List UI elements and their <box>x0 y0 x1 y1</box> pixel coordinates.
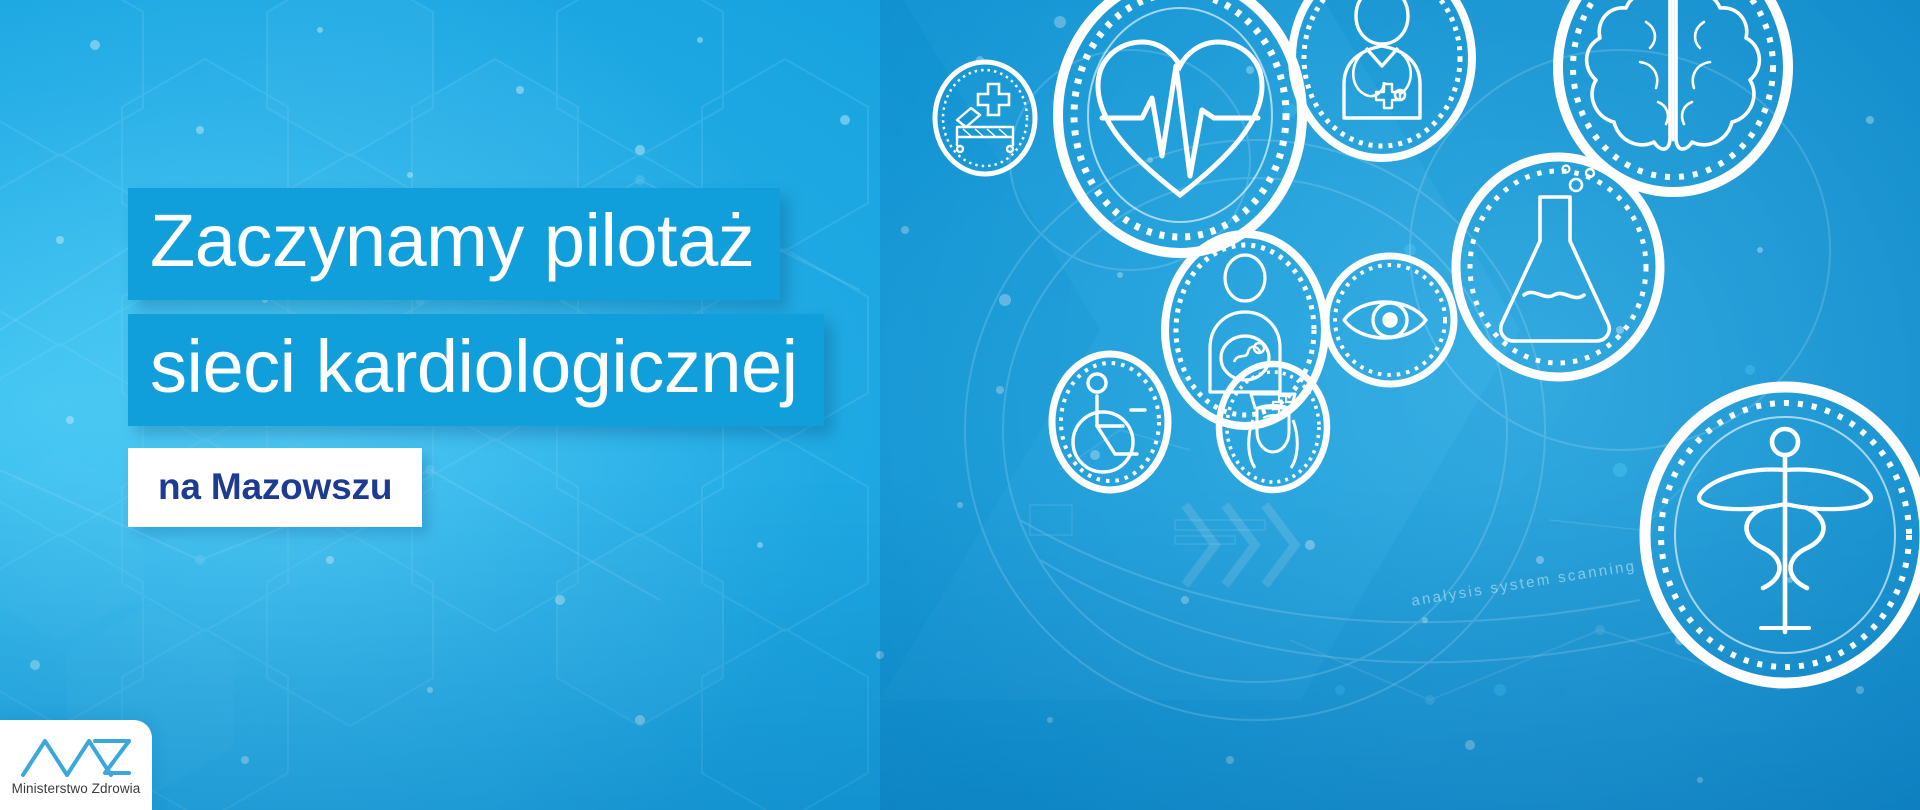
headline-line-2: sieci kardiologicznej <box>128 314 824 426</box>
eye-icon <box>1320 250 1460 390</box>
ministry-logo-caption: Ministerstwo Zdrowia <box>12 781 141 796</box>
caduceus-icon <box>1635 380 1920 690</box>
doctor-icon <box>1282 0 1482 173</box>
brain-icon <box>1548 0 1798 202</box>
bottom-shade <box>0 480 1920 810</box>
headline-block: Zaczynamy pilotaż sieci kardiologicznej … <box>128 188 824 527</box>
headline-line-1: Zaczynamy pilotaż <box>128 188 780 300</box>
right-glow <box>880 0 1920 810</box>
nurse-icon <box>1213 360 1333 495</box>
mz-monogram-icon <box>17 735 135 779</box>
scan-text-decoration: analysis system scanning <box>1410 557 1638 609</box>
flask-icon <box>1448 155 1668 385</box>
banner-root: analysis system scanning <box>0 0 1920 810</box>
pregnancy-icon <box>1158 230 1333 435</box>
ministry-logo: Ministerstwo Zdrowia <box>0 720 152 810</box>
wheelchair-icon <box>1045 350 1175 495</box>
subline-badge: na Mazowszu <box>128 448 422 527</box>
heart-pulse-icon <box>1050 0 1310 260</box>
hospital-bed-icon <box>930 58 1040 178</box>
